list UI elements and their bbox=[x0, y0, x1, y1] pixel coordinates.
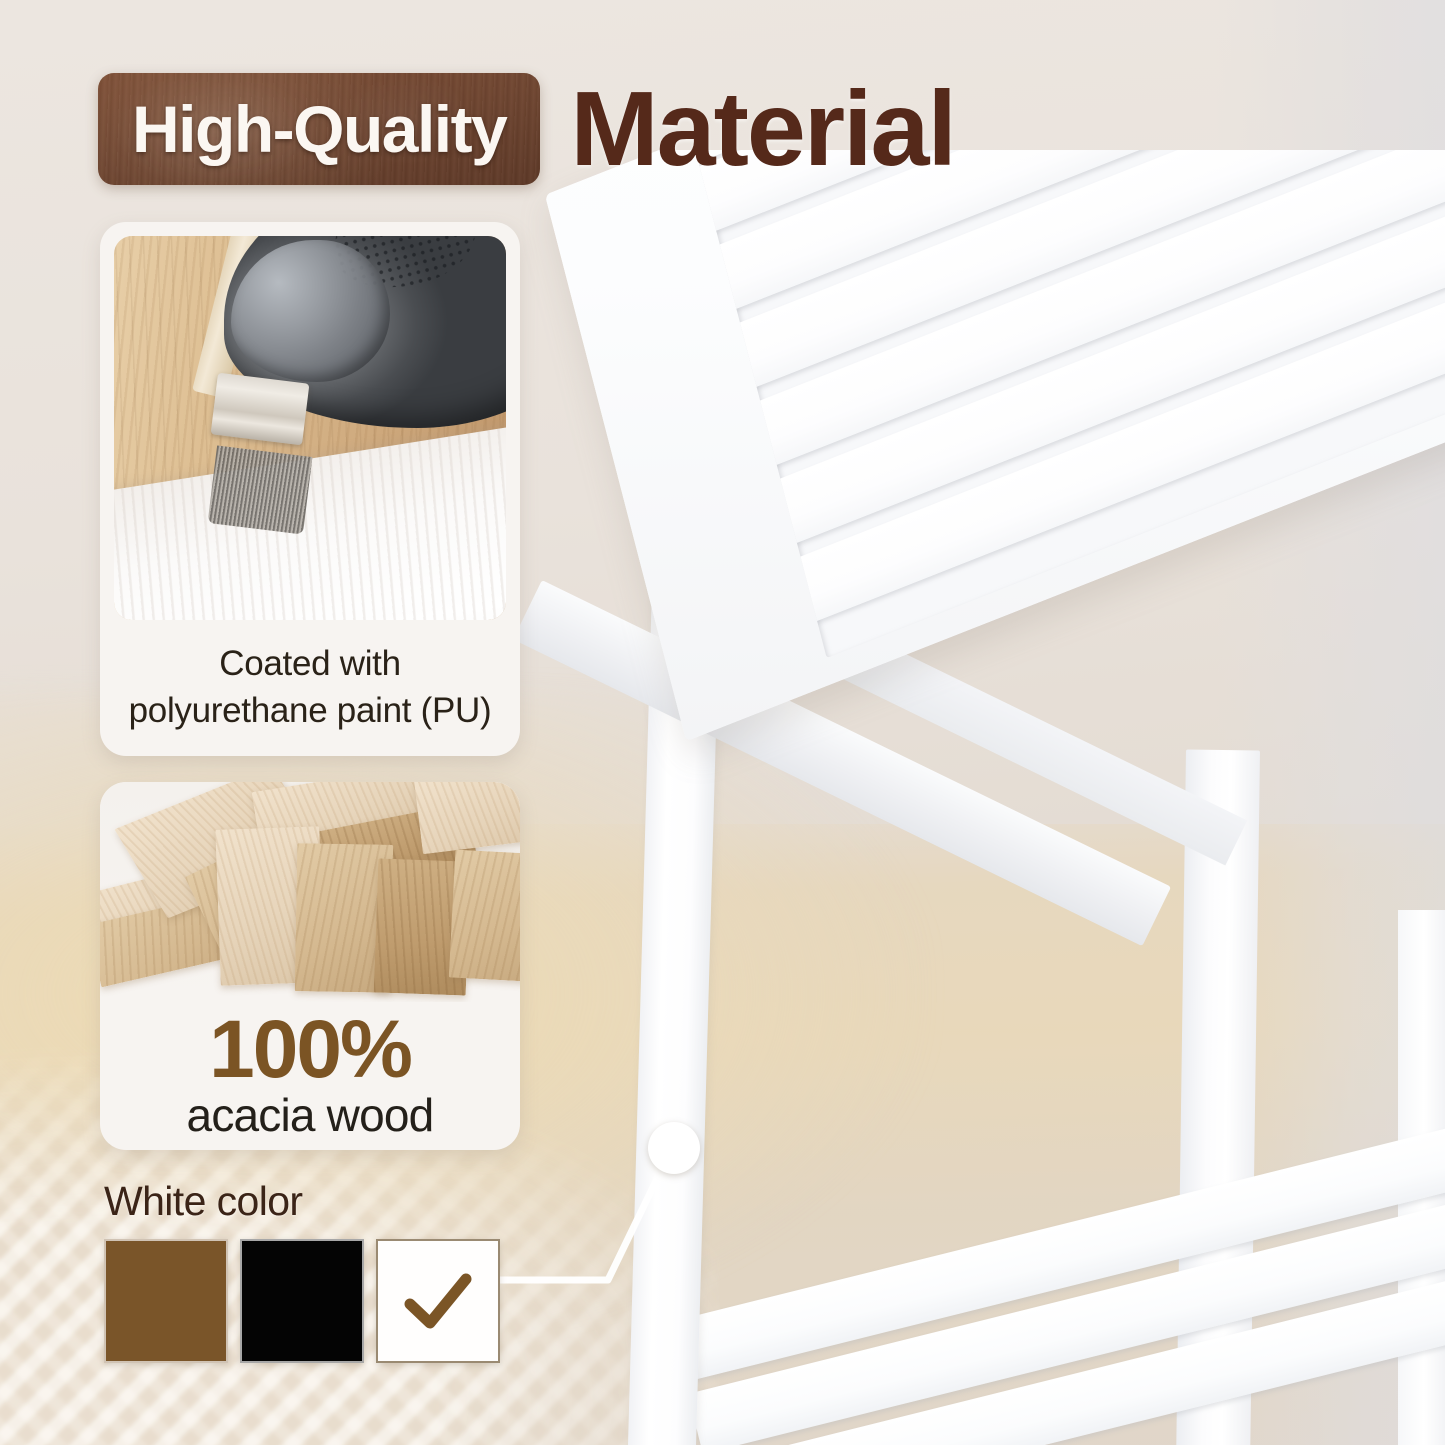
header: High-Quality Material bbox=[98, 66, 1338, 192]
paint-caption-line-2: polyurethane paint (PU) bbox=[114, 687, 506, 734]
brush-ferrule bbox=[211, 373, 310, 446]
color-swatch-row bbox=[104, 1239, 534, 1363]
tabletop-surface bbox=[545, 150, 1445, 741]
brush-bristles bbox=[208, 445, 313, 534]
high-quality-badge: High-Quality bbox=[98, 73, 540, 185]
acacia-material-label: acacia wood bbox=[100, 1091, 520, 1139]
color-swatch-brown[interactable] bbox=[104, 1239, 228, 1363]
stacked-wood-blocks-photo bbox=[100, 782, 520, 1002]
page-title: Material bbox=[570, 76, 955, 182]
paint-caption-line-1: Coated with bbox=[114, 620, 506, 687]
color-selector-label: White color bbox=[104, 1178, 534, 1225]
infographic-canvas: High-Quality Material Coated with polyur… bbox=[0, 0, 1445, 1445]
gloved-hand-painting-wood-photo bbox=[114, 236, 506, 620]
high-quality-badge-label: High-Quality bbox=[132, 96, 506, 162]
table-lower-shelf bbox=[670, 1114, 1445, 1445]
acacia-percentage: 100% bbox=[100, 1012, 520, 1087]
info-card-paint-coating: Coated with polyurethane paint (PU) bbox=[100, 222, 520, 756]
glove-grip-dots bbox=[321, 236, 487, 302]
info-card-acacia-wood: 100% acacia wood bbox=[100, 782, 520, 1150]
color-swatch-black[interactable] bbox=[240, 1239, 364, 1363]
white-slatted-side-table-photo bbox=[520, 150, 1445, 1445]
check-icon bbox=[399, 1262, 477, 1340]
color-swatch-white-selected[interactable] bbox=[376, 1239, 500, 1363]
color-selector: White color bbox=[104, 1178, 534, 1363]
